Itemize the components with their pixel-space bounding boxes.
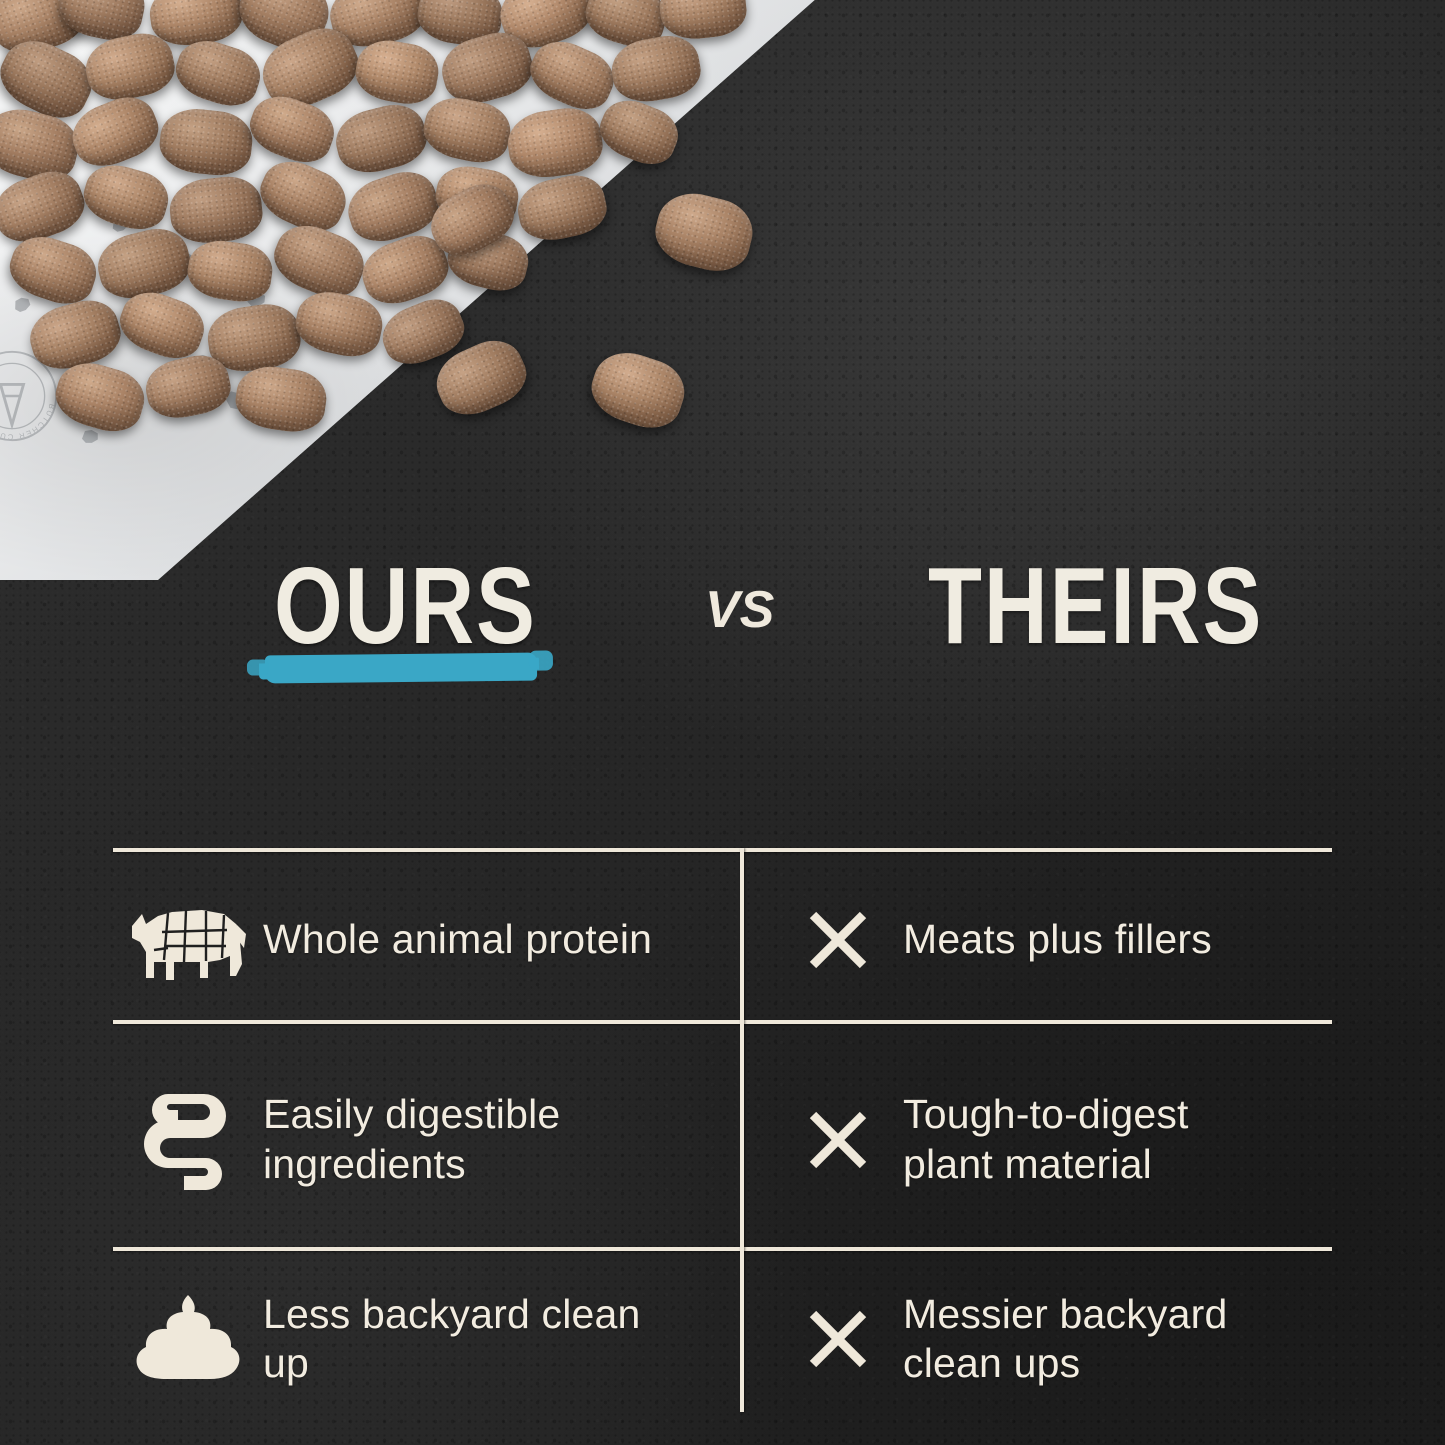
cell-theirs-2: Tough-to-digest plant material [773, 1090, 1283, 1188]
divider-vertical [740, 848, 744, 1412]
table-row: Whole animal protein [113, 860, 740, 1020]
vs-label: VS [705, 584, 774, 636]
divider-top [113, 848, 1332, 852]
cell-ours-2: Easily digestible ingredients [113, 1088, 683, 1192]
theirs-row2-label: Tough-to-digest plant material [903, 1090, 1283, 1188]
table-row: Easily digestible ingredients [113, 1032, 740, 1247]
cell-ours-1: Whole animal protein [113, 890, 652, 990]
butcher-cow-icon [113, 890, 263, 990]
comparison-headings: OURS VS THEIRS [113, 560, 1332, 700]
comparison-infographic: BUTCHER CUT PROTEIN OURS VS THEIRS [0, 0, 1445, 1445]
cell-theirs-3: Messier backyard clean ups [773, 1290, 1293, 1388]
ours-row1-label: Whole animal protein [263, 915, 652, 964]
cell-theirs-1: Meats plus fillers [773, 907, 1212, 973]
divider-row2 [113, 1247, 1332, 1251]
table-row: Less backyard clean up [113, 1259, 740, 1419]
table-row: Meats plus fillers [773, 860, 1332, 1020]
x-mark-icon [773, 1306, 903, 1372]
theirs-row1-label: Meats plus fillers [903, 915, 1212, 964]
comparison-table: OURS VS THEIRS [113, 560, 1332, 1290]
ours-heading: OURS [274, 552, 537, 661]
divider-row1 [113, 1020, 1332, 1024]
table-row: Tough-to-digest plant material [773, 1032, 1332, 1247]
theirs-heading: THEIRS [928, 552, 1263, 661]
theirs-row3-label: Messier backyard clean ups [903, 1290, 1293, 1388]
ours-row2-label: Easily digestible ingredients [263, 1090, 683, 1188]
intestine-icon [113, 1088, 263, 1192]
x-mark-icon [773, 907, 903, 973]
cell-ours-3: Less backyard clean up [113, 1290, 683, 1388]
poop-icon [113, 1291, 263, 1387]
table-row: Messier backyard clean ups [773, 1259, 1332, 1419]
x-mark-icon [773, 1107, 903, 1173]
ours-row3-label: Less backyard clean up [263, 1290, 683, 1388]
ours-underline-brushstroke [265, 653, 537, 684]
svg-text:BUTCHER CUT PROTEIN: BUTCHER CUT PROTEIN [0, 396, 60, 444]
